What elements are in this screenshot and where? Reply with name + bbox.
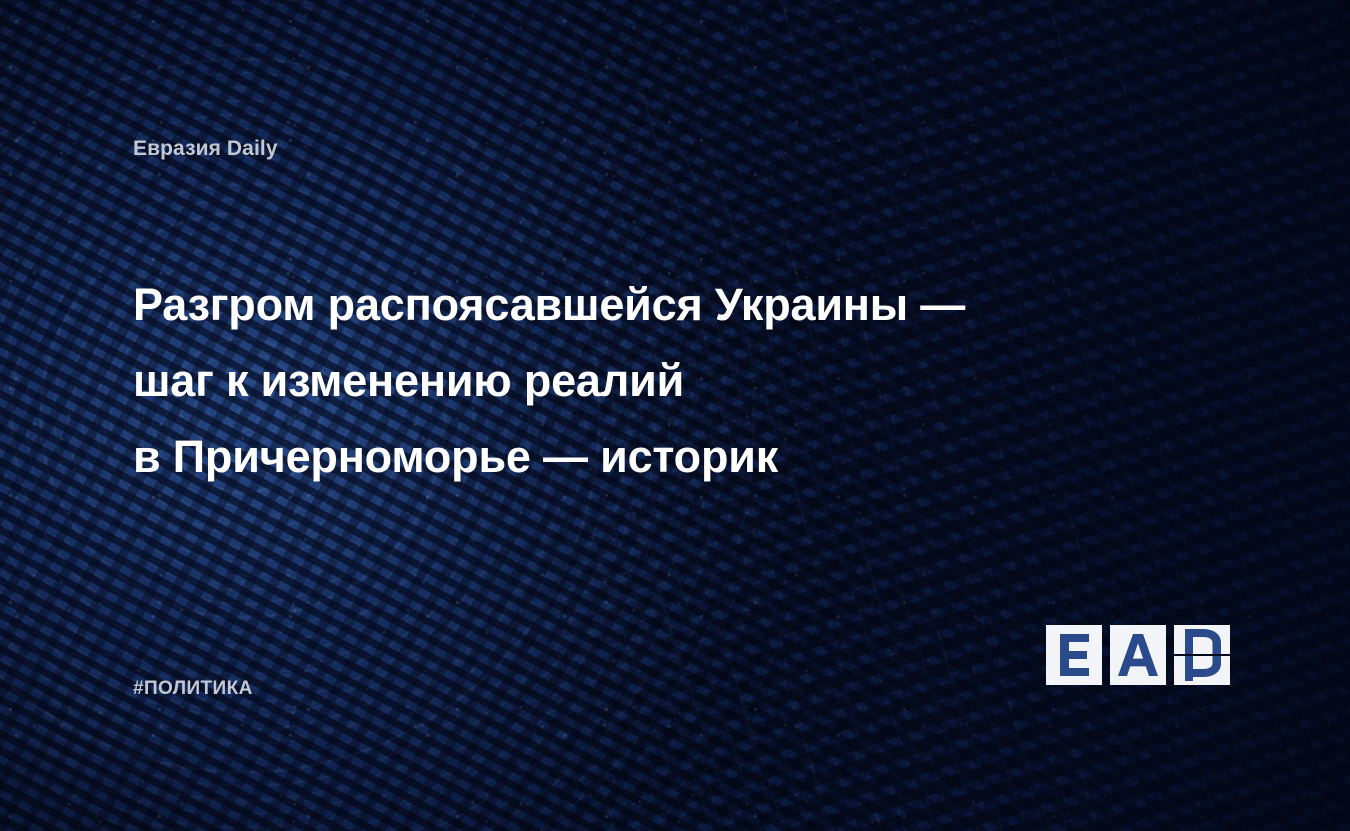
brand-name: Евразия Daily: [133, 137, 278, 161]
headline-line-3: в Причерноморье — историк: [133, 419, 1193, 495]
headline-line-1: Разгром распоясавшейся Украины —: [133, 267, 1193, 343]
news-card: Евразия Daily Разгром распоясавшейся Укр…: [0, 0, 1350, 831]
category-tag[interactable]: #ПОЛИТИКА: [133, 678, 253, 700]
letter-e-icon: [1046, 625, 1102, 685]
card-content: Евразия Daily Разгром распоясавшейся Укр…: [0, 0, 1350, 831]
letter-a-icon: [1110, 625, 1166, 685]
letter-d-stacked-icon-bottom: [1174, 656, 1230, 685]
page-title: Разгром распоясавшейся Украины — шаг к и…: [133, 267, 1193, 495]
headline-line-2: шаг к изменению реалий: [133, 343, 1193, 419]
logo-tile-e: [1046, 625, 1102, 685]
eadaily-logo[interactable]: [1046, 625, 1230, 685]
letter-d-stacked-icon-top: [1174, 625, 1230, 654]
logo-tile-a: [1110, 625, 1166, 685]
logo-tile-d: [1174, 625, 1230, 685]
